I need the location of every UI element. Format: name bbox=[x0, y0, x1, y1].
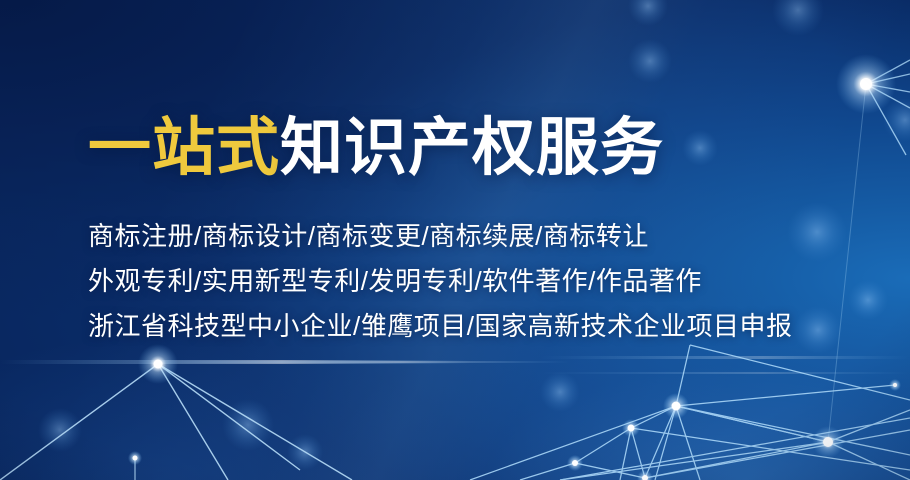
background-vignette bbox=[0, 0, 910, 480]
promo-banner: 一站式知识产权服务 商标注册/商标设计/商标变更/商标续展/商标转让 外观专利/… bbox=[0, 0, 910, 480]
